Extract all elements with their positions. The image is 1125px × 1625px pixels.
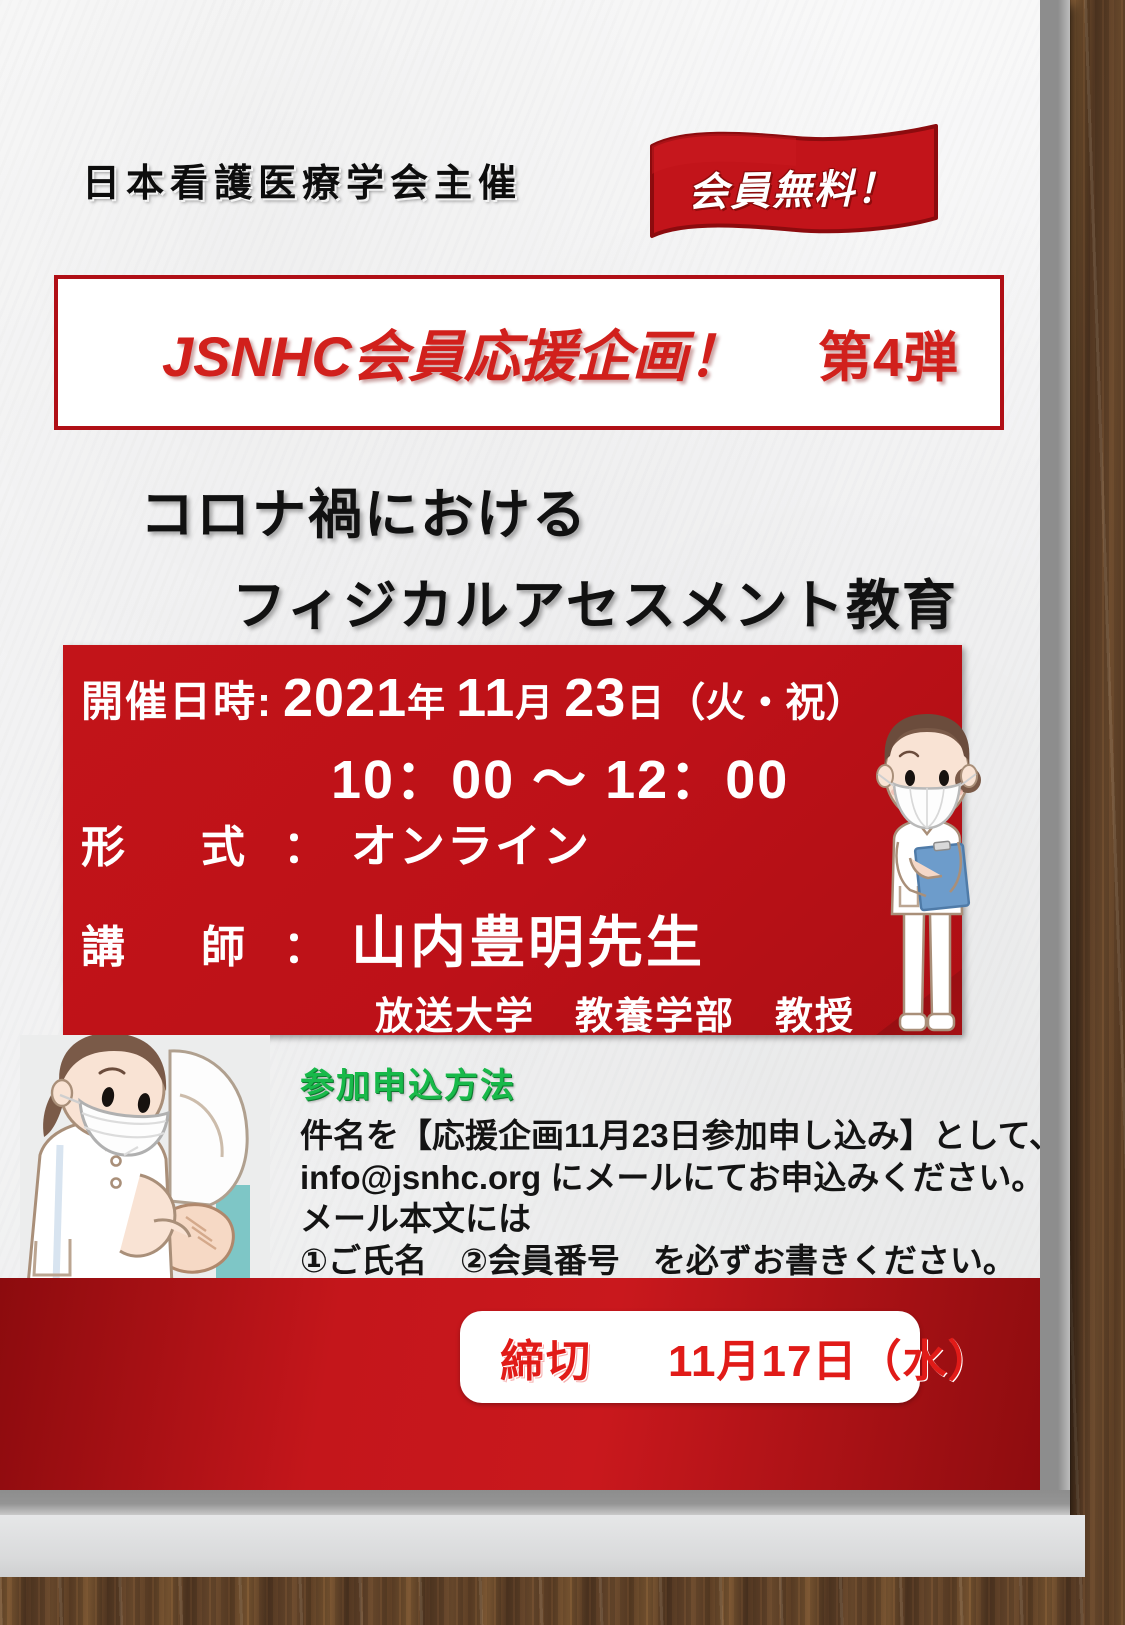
members-free-ribbon: 会員無料！	[646, 122, 940, 240]
application-heading: 参加申込方法	[300, 1058, 990, 1107]
event-lecturer-affiliation: 放送大学 教養学部 教授	[375, 985, 855, 1035]
event-lecturer-key: 講 師	[81, 911, 293, 975]
application-line-1: 件名を【応援企画11月23日参加申し込み】として、	[300, 1115, 990, 1157]
application-line-2-rest: にメールにてお申込みください。	[541, 1159, 1044, 1196]
event-date-day: 23	[564, 667, 626, 729]
title-line-1: コロナ禍における	[140, 470, 1040, 549]
series-headline-box: JSNHC会員応援企画！ 第4弾	[54, 275, 1004, 430]
application-line-4: ①ご氏名 ②会員番号 を必ずお書きください。	[300, 1240, 990, 1282]
event-lecturer-row: 講 師 ： 山内豊明先生	[81, 898, 705, 979]
application-body: 件名を【応援企画11月23日参加申し込み】として、 info@jsnhc.org…	[300, 1115, 990, 1281]
event-date-weekday: （火・祝）	[665, 670, 865, 728]
volume-label: 第4弾	[818, 313, 959, 392]
sheet-right-edge	[1040, 0, 1070, 1515]
event-format-value: オンライン	[351, 810, 591, 876]
event-format-row: 形 式 ： オンライン	[81, 810, 591, 876]
event-date-year: 2021	[283, 667, 407, 729]
host-organization-line: 日本看護医療学会主催	[82, 152, 522, 207]
nurse-standing-icon	[852, 700, 1002, 1040]
event-date-row: 開催日時: 2021 年 11 月 23 日 （火・祝）	[81, 667, 865, 729]
event-lecturer-separator: ：	[283, 911, 327, 975]
deadline-badge: 締切 11月17日（水）	[460, 1311, 920, 1403]
page-title: コロナ禍における フィジカルアセスメント教育	[0, 470, 1040, 640]
series-label: JSNHC会員応援企画！	[162, 312, 744, 393]
event-date-month: 11	[456, 667, 515, 729]
application-line-3: メール本文には	[300, 1198, 990, 1240]
title-line-2: フィジカルアセスメント教育	[232, 561, 1040, 640]
event-time: 10：00 ～ 12：00	[331, 735, 789, 814]
event-format-separator: ：	[283, 811, 327, 875]
event-date-label: 開催日時:	[81, 668, 273, 729]
nurse-examining-hand-icon	[20, 1035, 270, 1285]
event-date-day-unit: 日	[626, 672, 665, 727]
event-date-month-unit: 月	[515, 672, 554, 727]
event-lecturer-value: 山内豊明先生	[351, 898, 705, 979]
contact-email[interactable]: info@jsnhc.org	[300, 1159, 541, 1196]
event-details-panel: 開催日時: 2021 年 11 月 23 日 （火・祝） 10：00 ～ 12：…	[63, 645, 962, 1035]
deadline-label: 締切	[500, 1325, 592, 1389]
application-section: 参加申込方法 件名を【応援企画11月23日参加申し込み】として、 info@js…	[300, 1058, 990, 1281]
poster-sheet: 日本看護医療学会主催 会員無料！ JSNHC会員応援企画！ 第4弾 コロナ禍にお…	[0, 0, 1070, 1515]
application-line-2: info@jsnhc.org にメールにてお申込みください。	[300, 1157, 990, 1199]
sheet-bottom-edge	[0, 1490, 1070, 1515]
sheet-bottom-margin	[0, 1515, 1085, 1577]
event-date-year-unit: 年	[407, 672, 446, 727]
members-free-label: 会員無料！	[645, 155, 940, 219]
nurse-examining-illustration	[20, 1035, 270, 1285]
nurse-standing-illustration	[852, 700, 1002, 1040]
deadline-date: 11月17日（水）	[668, 1325, 992, 1389]
event-format-key: 形 式	[81, 811, 293, 875]
